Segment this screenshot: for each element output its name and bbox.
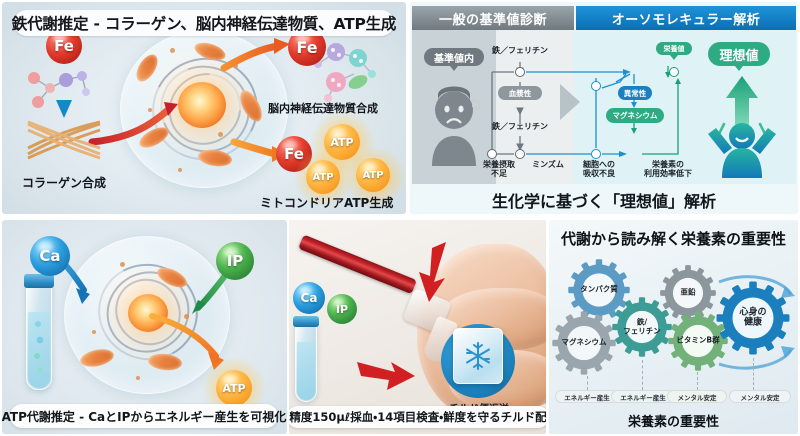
label-poor-absorption: 細胞への 吸収不良 [570, 160, 628, 178]
node-dot [591, 81, 601, 91]
cell-nucleus [128, 294, 168, 332]
gear-label-protein: タンパク質 [580, 286, 618, 295]
gear-label-zinc: 亜鉛 [681, 289, 696, 298]
tube-bubbles [28, 316, 50, 378]
sad-person-icon [426, 78, 482, 166]
vesicle [234, 64, 238, 68]
panel-iron-metabolism: Fe Fe Fe ATP ATP ATP 鉄代謝推定 - コラーゲン、脳内神経伝… [2, 2, 406, 214]
tag-nutrient-value: 栄養値 [656, 42, 692, 55]
node-dot [487, 149, 497, 159]
label-iron-ferritin-bottom: 鉄／フェリチン [486, 122, 554, 131]
panel-caption-atp: ATP代謝推定 - CaとIPからエネルギー産生を可視化 [10, 404, 278, 428]
panel-ideal-value-analysis: 一般の基準値診断 オーソモレキュラー解析 基準値内 [410, 2, 798, 214]
rotation-arrows [705, 268, 798, 376]
tag-energy-production-1: エネルギー産生 [555, 390, 619, 403]
label-iron-ferritin-top: 鉄／フェリチン [488, 46, 552, 55]
panel-title-gears: 代謝から読み解く栄養素の重要性 [549, 228, 798, 249]
panel-atp-metabolism: Ca IP ATP ATP代謝推定 - CaとIPからエネルギー産生を可視化 [2, 220, 287, 434]
panel-nutrient-importance: 代謝から読み解く栄養素の重要性 タンパク質 [549, 220, 798, 434]
header-orthomolecular-analysis: オーソモレキュラー解析 [576, 6, 796, 30]
atp-sphere: ATP [216, 370, 252, 406]
ip-sphere: IP [327, 294, 357, 324]
label-nutrient-deficiency: 栄養摂取 不足 [472, 160, 526, 178]
collagen-fibers [26, 120, 104, 160]
atp-sphere-3: ATP [356, 158, 390, 192]
tag-nutrient-value-text: 栄養値 [664, 44, 685, 54]
node-dot [591, 149, 601, 159]
tube-cap [24, 274, 54, 288]
connector [753, 358, 754, 390]
panel-caption-gears: 栄養素の重要性 [549, 411, 798, 430]
gear-label-iron-ferritin: 鉄/ フェリチン [623, 318, 661, 335]
vesicle [92, 330, 96, 334]
cell-nucleus [178, 82, 226, 128]
vesicle [136, 376, 140, 380]
vesicle [218, 132, 223, 137]
connector [697, 372, 698, 390]
snowflake-icon [463, 341, 493, 371]
vesicle [184, 314, 189, 319]
ca-sphere: Ca [293, 282, 325, 314]
ip-sphere: IP [216, 242, 254, 280]
label-minzumu: ミンズム [522, 160, 574, 169]
tag-abnormal: 異常性 [618, 86, 652, 100]
tag-magnesium: マグネシウム [606, 108, 664, 123]
vesicle [120, 262, 125, 267]
vesicle [170, 48, 175, 53]
tag-ideal-value-text: 理想値 [719, 45, 758, 64]
vesicle [178, 168, 182, 172]
tag-mental-stability-1: メンタル安定 [667, 390, 727, 403]
label-mitochondria-atp: ミトコンドリアATP生成 [260, 194, 393, 211]
label-neurotransmitter-synthesis: 脳内神経伝達物質合成 [268, 100, 378, 116]
tube-fluid [297, 342, 315, 400]
ca-sphere: Ca [30, 236, 70, 276]
panel-blood-collection: Ca IP チルド便返送 高精度150μℓ採血・14項目検査・鮮度を守るチルド配 [289, 220, 546, 434]
sample-tube [295, 322, 317, 402]
atp-sphere-2: ATP [306, 160, 340, 194]
tag-within-standard: 基準値内 [424, 48, 484, 66]
connector [642, 360, 643, 390]
tube-cap [293, 316, 319, 327]
molecule-cluster-left [20, 62, 100, 114]
vesicle [148, 108, 152, 112]
chilled-pack [453, 328, 503, 384]
tag-ideal-value: 理想値 [708, 42, 770, 66]
panel-caption-blood: 高精度150μℓ採血・14項目検査・鮮度を守るチルド配送 [289, 406, 546, 428]
panel-caption-ideal-analysis: 生化学に基づく「理想値」解析 [410, 188, 798, 212]
panel-title-iron: 鉄代謝推定 - コラーゲン、脳内神経伝達物質、ATP生成 [14, 10, 394, 36]
transition-triangle [560, 84, 580, 120]
connector [587, 376, 588, 390]
infographic-board: Fe Fe Fe ATP ATP ATP 鉄代謝推定 - コラーゲン、脳内神経伝… [0, 0, 800, 436]
gear-label-magnesium: マグネシウム [562, 339, 607, 348]
tag-energy-production-2: エネルギー産生 [611, 390, 675, 403]
node-dot [515, 149, 525, 159]
node-dot [669, 67, 679, 77]
header-standard-diagnosis: 一般の基準値診断 [412, 6, 574, 30]
label-collagen-synthesis: コラーゲン合成 [22, 174, 106, 191]
tag-mental-stability-2: メンタル安定 [729, 390, 791, 403]
tag-blood-viscosity: 血漿性 [498, 86, 542, 100]
node-dot [515, 67, 525, 77]
label-low-utilization: 栄養素の 利用効率低下 [632, 160, 704, 178]
tag-within-standard-text: 基準値内 [434, 50, 474, 65]
happy-person-with-arrow-icon [706, 74, 778, 178]
